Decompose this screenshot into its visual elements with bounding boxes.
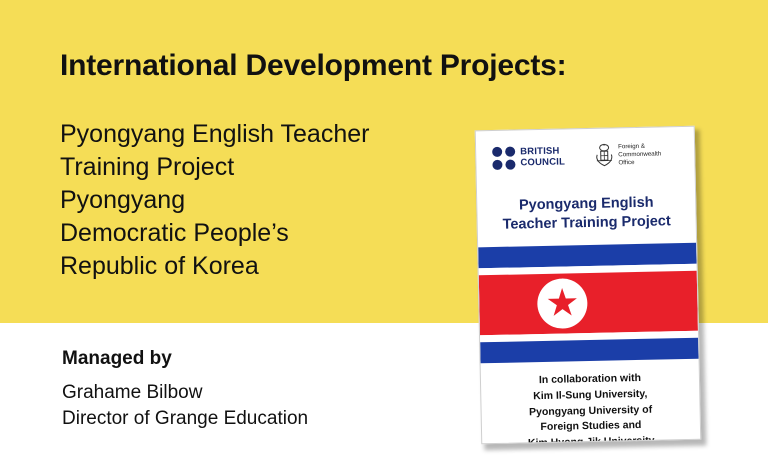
british-council-dots-icon [492,147,515,170]
project-line: Training Project [60,151,460,184]
fco-wordmark: Foreign & Commonwealth Office [618,143,661,167]
project-poster: BRITISH COUNCIL [475,126,704,447]
flag-stripe-red [479,271,698,336]
project-line: Democratic People’s [60,217,460,250]
poster-card: BRITISH COUNCIL [475,126,702,445]
star-icon: ★ [545,286,580,321]
fco-line-3: Office [618,158,661,167]
royal-crest-icon [594,142,615,168]
british-council-wordmark: BRITISH COUNCIL [520,146,565,168]
fco-logo: Foreign & Commonwealth Office [594,141,662,168]
project-name-block: Pyongyang English Teacher Training Proje… [60,118,460,283]
project-line: Pyongyang English Teacher [60,118,460,151]
managed-by-label: Managed by [62,348,172,370]
managed-by-block: Grahame Bilbow Director of Grange Educat… [62,380,308,431]
poster-heading: Pyongyang English Teacher Training Proje… [477,193,696,235]
british-council-logo: BRITISH COUNCIL [492,145,565,170]
slide: International Development Projects: Pyon… [0,0,768,471]
flag-stripe-blue-bottom [480,338,698,364]
manager-title: Director of Grange Education [62,406,308,432]
project-line: Pyongyang [60,184,460,217]
bc-line-2: COUNCIL [520,157,565,169]
dprk-flag: ★ [478,243,698,366]
fco-line-2: Commonwealth [618,151,661,160]
project-line: Republic of Korea [60,250,460,283]
manager-name: Grahame Bilbow [62,380,308,406]
collaboration-block: In collaboration with Kim Il-Sung Univer… [481,370,701,445]
poster-heading-line: Teacher Training Project [478,212,696,235]
poster-logo-row: BRITISH COUNCIL [476,141,695,186]
page-title: International Development Projects: [60,48,700,84]
